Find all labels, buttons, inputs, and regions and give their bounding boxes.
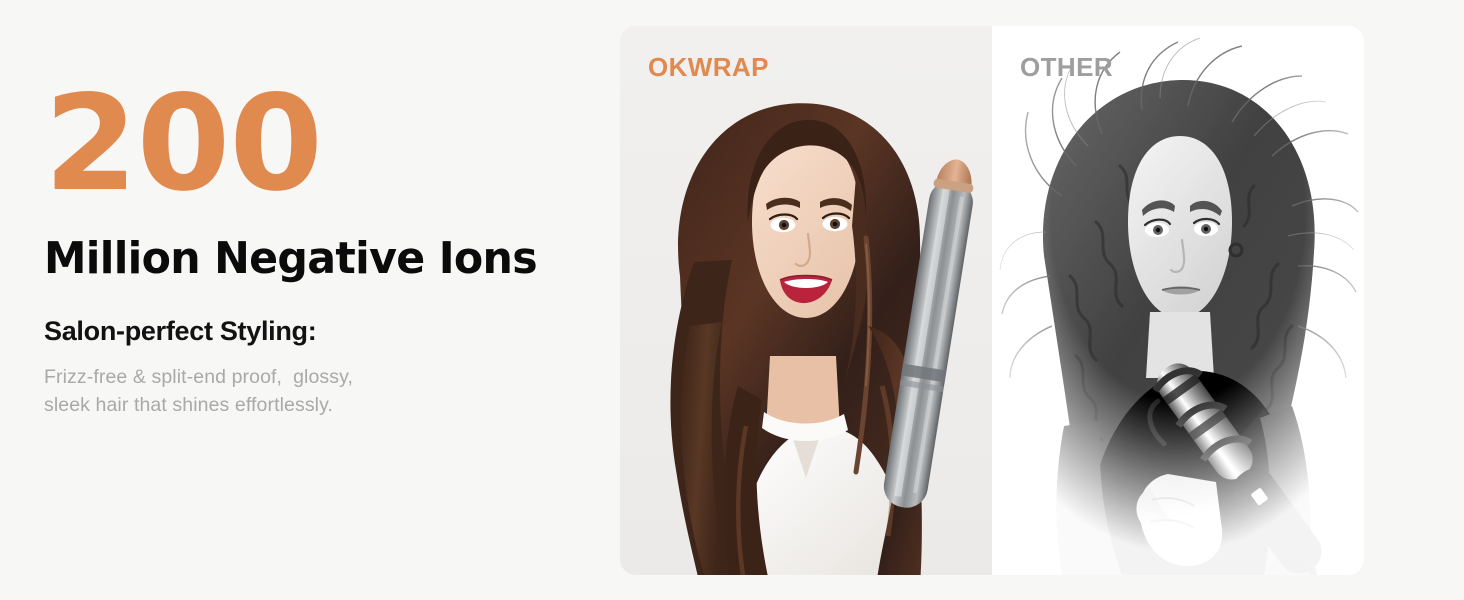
promo-banner: 200 Million Negative Ions Salon-perfect … bbox=[0, 0, 1464, 600]
card-other: OTHER bbox=[992, 26, 1364, 575]
stat-unit-heading: Million Negative Ions bbox=[44, 236, 587, 283]
photo-okwrap-model bbox=[620, 26, 992, 575]
sub-heading: Salon-perfect Styling: bbox=[44, 315, 604, 347]
photo-other-model bbox=[992, 26, 1364, 575]
body-copy-line-2: sleek hair that shines effortlessly. bbox=[44, 392, 604, 420]
comparison-cards: OKWRAP bbox=[620, 26, 1364, 575]
card-label-okwrap: OKWRAP bbox=[648, 52, 769, 83]
body-copy-line-1: Frizz-free & split-end proof, glossy, bbox=[44, 364, 604, 392]
body-copy: Frizz-free & split-end proof, glossy, sl… bbox=[44, 364, 604, 419]
copy-block: 200 Million Negative Ions Salon-perfect … bbox=[44, 78, 604, 419]
card-label-other: OTHER bbox=[1020, 52, 1113, 83]
stat-number: 200 bbox=[44, 78, 615, 210]
card-okwrap: OKWRAP bbox=[620, 26, 992, 575]
